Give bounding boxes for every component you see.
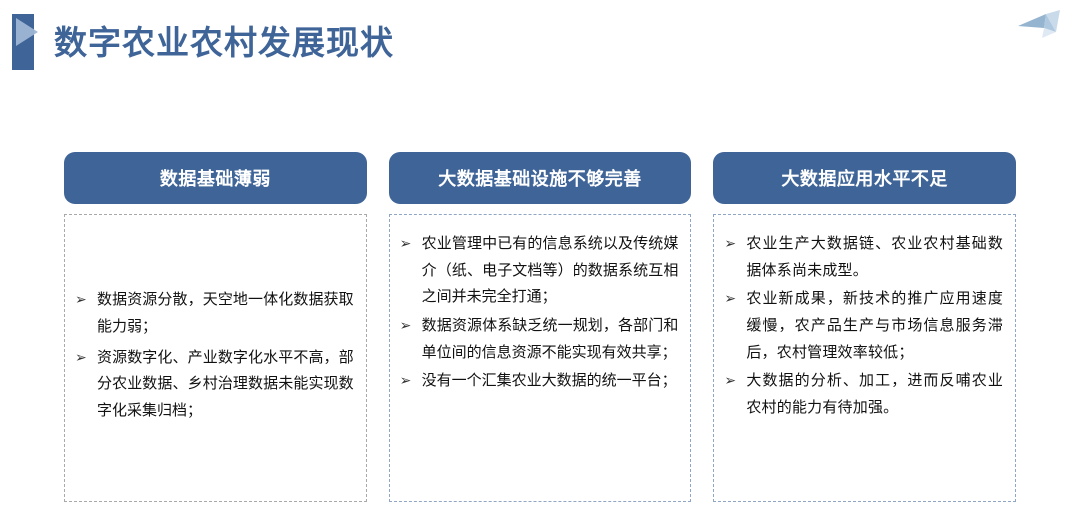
list-item-text: 数据资源分散，天空地一体化数据获取能力弱； — [97, 287, 354, 340]
title-accent-decoration — [0, 14, 52, 70]
page-title: 数字农业农村发展现状 — [54, 26, 394, 59]
card-bigdata-infrastructure: 大数据基础设施不够完善 ➢ 农业管理中已有的信息系统以及传统媒介（纸、电子文档等… — [389, 152, 692, 502]
list-item-text: 数据资源体系缺乏统一规划，各部门和单位间的信息资源不能实现有效共享； — [422, 313, 679, 366]
chevron-right-icon: ➢ — [724, 368, 746, 393]
list-item-text: 资源数字化、产业数字化水平不高，部分农业数据、乡村治理数据未能实现数字化采集归档… — [97, 345, 354, 425]
title-arrow-icon — [16, 18, 38, 46]
card-body-2: ➢ 农业管理中已有的信息系统以及传统媒介（纸、电子文档等）的数据系统互相之间并未… — [389, 214, 692, 502]
card-data-foundation: 数据基础薄弱 ➢ 数据资源分散，天空地一体化数据获取能力弱； ➢ 资源数字化、产… — [64, 152, 367, 502]
list-item: ➢ 数据资源体系缺乏统一规划，各部门和单位间的信息资源不能实现有效共享； — [400, 313, 679, 366]
list-item-text: 农业新成果，新技术的推广应用速度缓慢，农产品生产与市场信息服务滞后，农村管理效率… — [746, 286, 1003, 366]
slide-root: 数字农业农村发展现状 数据基础薄弱 ➢ 数据资源分散，天空地一体化数据获取能力弱… — [0, 0, 1080, 521]
list-item: ➢ 农业新成果，新技术的推广应用速度缓慢，农产品生产与市场信息服务滞后，农村管理… — [724, 286, 1003, 366]
card-header-1[interactable]: 数据基础薄弱 — [64, 152, 367, 204]
list-item: ➢ 农业管理中已有的信息系统以及传统媒介（纸、电子文档等）的数据系统互相之间并未… — [400, 231, 679, 311]
chevron-right-icon: ➢ — [724, 231, 746, 256]
chevron-right-icon: ➢ — [724, 286, 746, 311]
card-header-3[interactable]: 大数据应用水平不足 — [713, 152, 1016, 204]
list-item: ➢ 资源数字化、产业数字化水平不高，部分农业数据、乡村治理数据未能实现数字化采集… — [75, 345, 354, 425]
card-body-1: ➢ 数据资源分散，天空地一体化数据获取能力弱； ➢ 资源数字化、产业数字化水平不… — [64, 214, 367, 502]
chevron-right-icon: ➢ — [400, 368, 422, 393]
list-item-text: 没有一个汇集农业大数据的统一平台； — [422, 368, 679, 395]
chevron-right-icon: ➢ — [400, 231, 422, 256]
chevron-right-icon: ➢ — [75, 287, 97, 312]
list-item: ➢ 数据资源分散，天空地一体化数据获取能力弱； — [75, 287, 354, 340]
card-header-2[interactable]: 大数据基础设施不够完善 — [389, 152, 692, 204]
list-item-text: 农业生产大数据链、农业农村基础数据体系尚未成型。 — [746, 231, 1003, 284]
card-body-3: ➢ 农业生产大数据链、农业农村基础数据体系尚未成型。 ➢ 农业新成果，新技术的推… — [713, 214, 1016, 502]
cards-container: 数据基础薄弱 ➢ 数据资源分散，天空地一体化数据获取能力弱； ➢ 资源数字化、产… — [0, 152, 1080, 502]
list-item: ➢ 没有一个汇集农业大数据的统一平台； — [400, 368, 679, 395]
chevron-right-icon: ➢ — [75, 345, 97, 370]
list-item: ➢ 大数据的分析、加工，进而反哺农业农村的能力有待加强。 — [724, 368, 1003, 421]
list-item-text: 大数据的分析、加工，进而反哺农业农村的能力有待加强。 — [746, 368, 1003, 421]
slide-title-row: 数字农业农村发展现状 — [0, 14, 394, 70]
card-bigdata-application: 大数据应用水平不足 ➢ 农业生产大数据链、农业农村基础数据体系尚未成型。 ➢ 农… — [713, 152, 1016, 502]
list-item: ➢ 农业生产大数据链、农业农村基础数据体系尚未成型。 — [724, 231, 1003, 284]
corner-origami-icon — [998, 4, 1068, 46]
list-item-text: 农业管理中已有的信息系统以及传统媒介（纸、电子文档等）的数据系统互相之间并未完全… — [422, 231, 679, 311]
chevron-right-icon: ➢ — [400, 313, 422, 338]
